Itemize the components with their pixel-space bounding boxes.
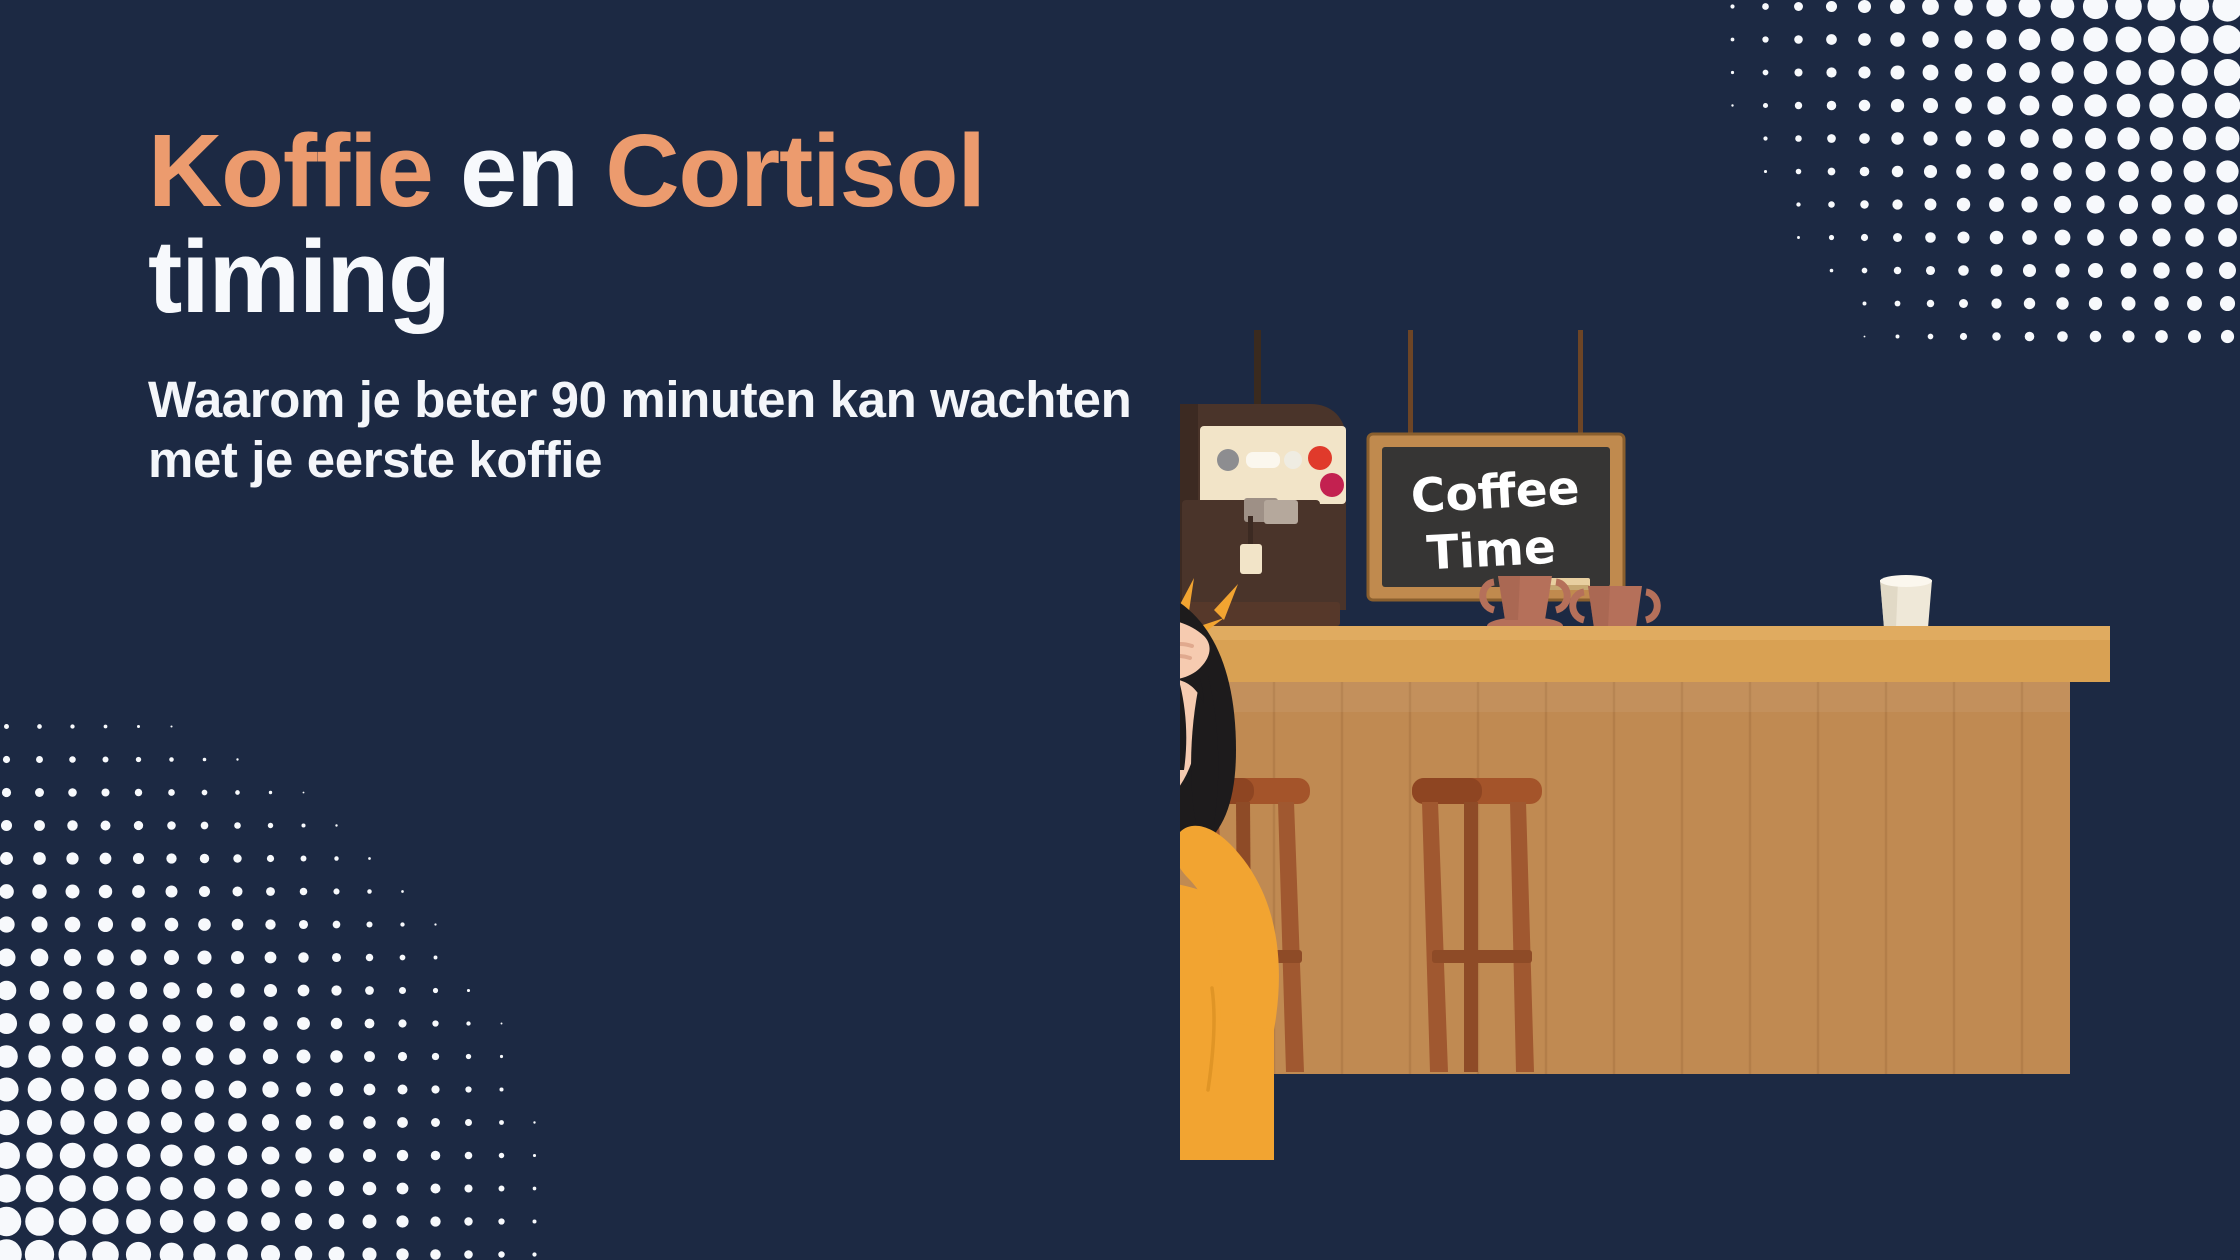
chalkboard-line-2: Time bbox=[1425, 520, 1557, 582]
halftone-pattern-top-right bbox=[1650, 0, 2240, 350]
bar-counter bbox=[1180, 626, 2110, 1074]
bar-stool-right bbox=[1412, 778, 1542, 1072]
halftone-pattern-bottom-left bbox=[0, 710, 570, 1260]
page-title: Koffie en Cortisoltiming bbox=[148, 118, 1188, 330]
illustration-coffee-bar-scene: Coffee Time bbox=[1180, 330, 2240, 1160]
page-title-accent-2: Cortisol bbox=[605, 113, 985, 228]
page-title-line-2: timing bbox=[148, 219, 450, 334]
chalkboard-sign: Coffee Time bbox=[1368, 330, 1624, 600]
page-title-connector: en bbox=[433, 113, 606, 228]
espresso-machine-icon bbox=[1180, 404, 1346, 626]
text-block: Koffie en Cortisoltiming Waarom je beter… bbox=[148, 118, 1188, 491]
page-subtitle: Waarom je beter 90 minuten kan wachten m… bbox=[148, 370, 1158, 490]
chalkboard-line-1: Coffee bbox=[1410, 461, 1581, 525]
slide-canvas: Koffie en Cortisoltiming Waarom je beter… bbox=[0, 0, 2240, 1260]
page-title-accent-1: Koffie bbox=[148, 113, 433, 228]
